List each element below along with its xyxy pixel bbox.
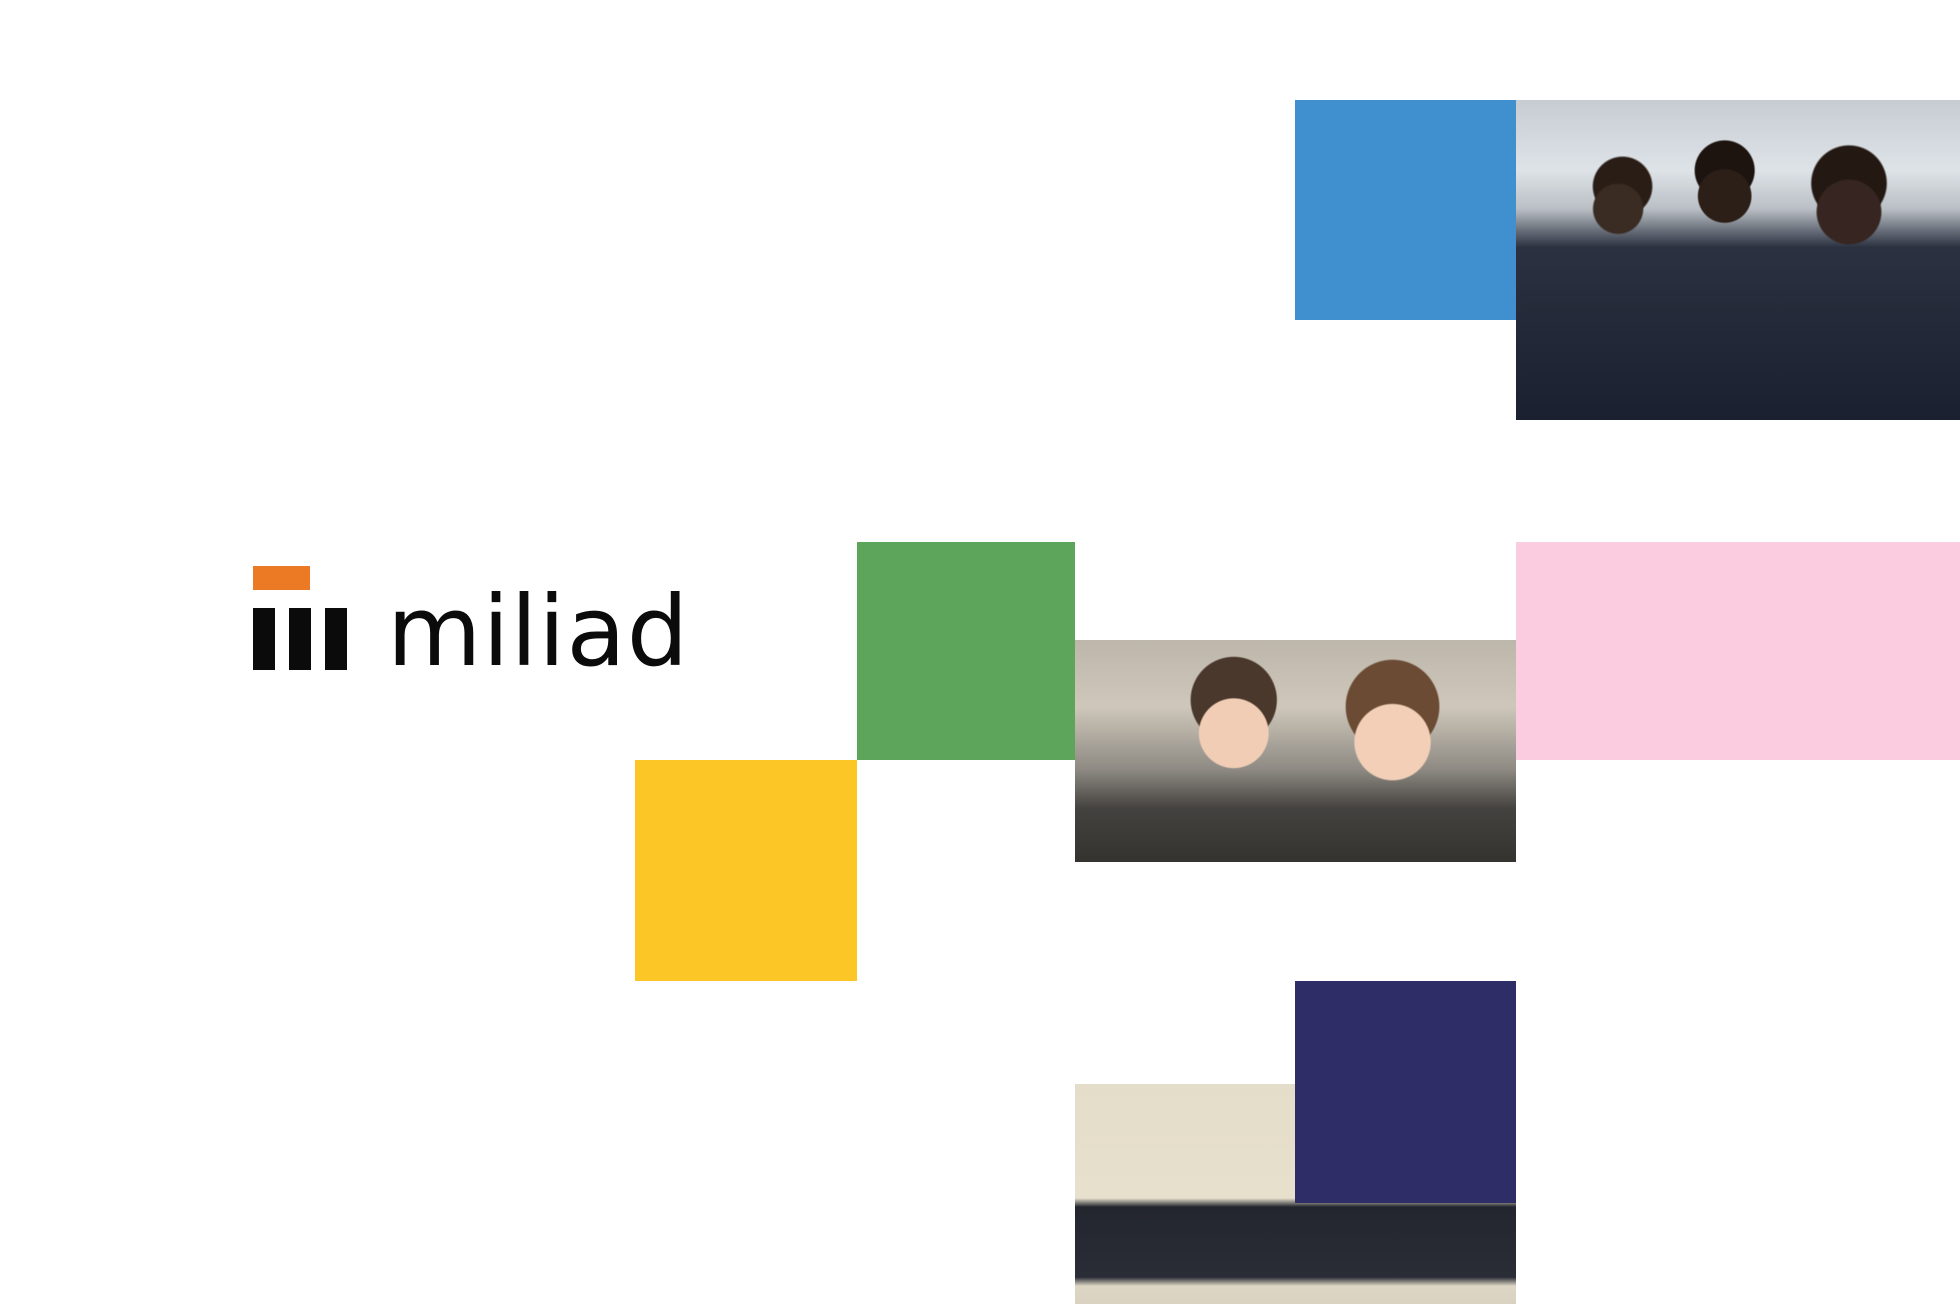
color-block-pink [1516, 542, 1960, 760]
logo-mark-bar-3 [325, 608, 347, 670]
brand-wordmark: miliad [387, 594, 689, 670]
color-block-green [857, 542, 1075, 760]
page-canvas: miliad [0, 0, 1960, 1304]
photo-three-colleagues-standing [1516, 100, 1960, 420]
logo-mark-bar-1 [253, 608, 275, 670]
photo-two-women-selfie [1075, 640, 1516, 862]
logo-mark-orange-bar [253, 566, 310, 590]
miliad-logo-mark-icon [250, 566, 350, 670]
color-block-blue [1295, 100, 1516, 320]
brand-logo[interactable]: miliad [250, 560, 750, 670]
color-block-yellow [635, 760, 857, 981]
logo-mark-bar-2 [289, 608, 311, 670]
color-block-navy [1295, 981, 1516, 1203]
